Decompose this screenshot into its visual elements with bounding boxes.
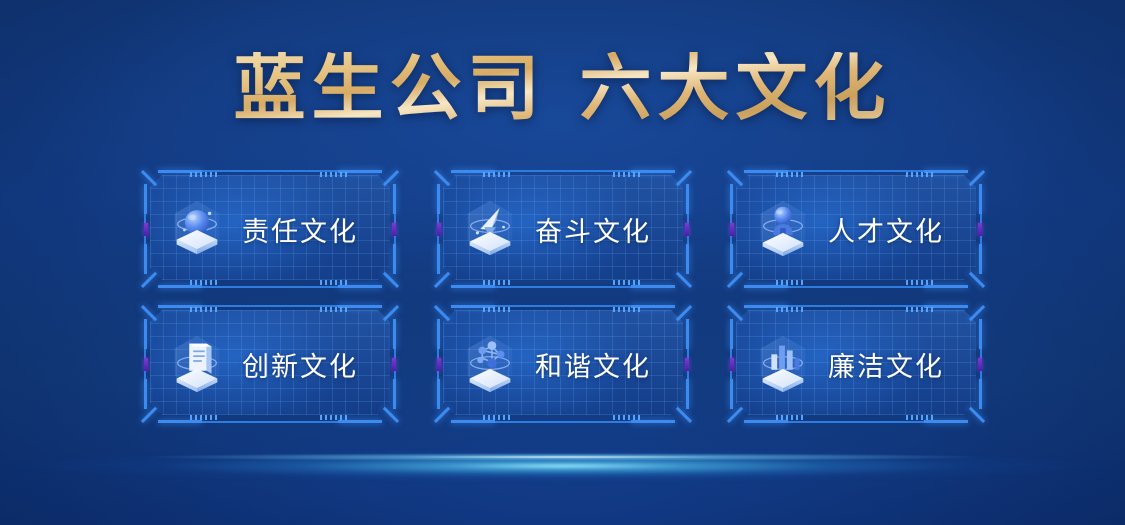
culture-card-integrity[interactable]: 廉洁文化 (730, 305, 982, 423)
card-body: 创新文化 (144, 305, 396, 423)
culture-card-innovation[interactable]: 创新文化 (144, 305, 396, 423)
culture-card-responsibility[interactable]: 责任文化 (144, 170, 396, 288)
page-title-part-one: 蓝生公司 (233, 49, 545, 129)
card-label: 奋斗文化 (535, 210, 651, 249)
person-avatar-icon (752, 198, 814, 260)
card-label: 和谐文化 (535, 345, 651, 384)
culture-card-talent[interactable]: 人才文化 (730, 170, 982, 288)
document-book-icon (166, 333, 228, 395)
card-label: 创新文化 (242, 345, 358, 384)
floor-light-core (113, 452, 1013, 462)
card-body: 人才文化 (730, 170, 982, 288)
card-label: 人才文化 (828, 210, 944, 249)
culture-card-grid: 责任文化 (144, 170, 982, 423)
bar-chart-buildings-icon (752, 333, 814, 395)
card-body: 和谐文化 (437, 305, 689, 423)
card-label: 责任文化 (242, 210, 358, 249)
poster-canvas: 蓝生公司六大文化 (0, 0, 1125, 525)
card-label: 廉洁文化 (828, 345, 944, 384)
floor-light-glow (0, 440, 1125, 492)
card-body: 奋斗文化 (437, 170, 689, 288)
molecule-network-icon (459, 333, 521, 395)
rocket-arrow-icon (459, 198, 521, 260)
page-title-part-two: 六大文化 (580, 49, 892, 129)
culture-card-struggle[interactable]: 奋斗文化 (437, 170, 689, 288)
culture-card-harmony[interactable]: 和谐文化 (437, 305, 689, 423)
page-title: 蓝生公司六大文化 (0, 52, 1125, 128)
sphere-planet-icon (166, 198, 228, 260)
card-body: 廉洁文化 (730, 305, 982, 423)
card-body: 责任文化 (144, 170, 396, 288)
